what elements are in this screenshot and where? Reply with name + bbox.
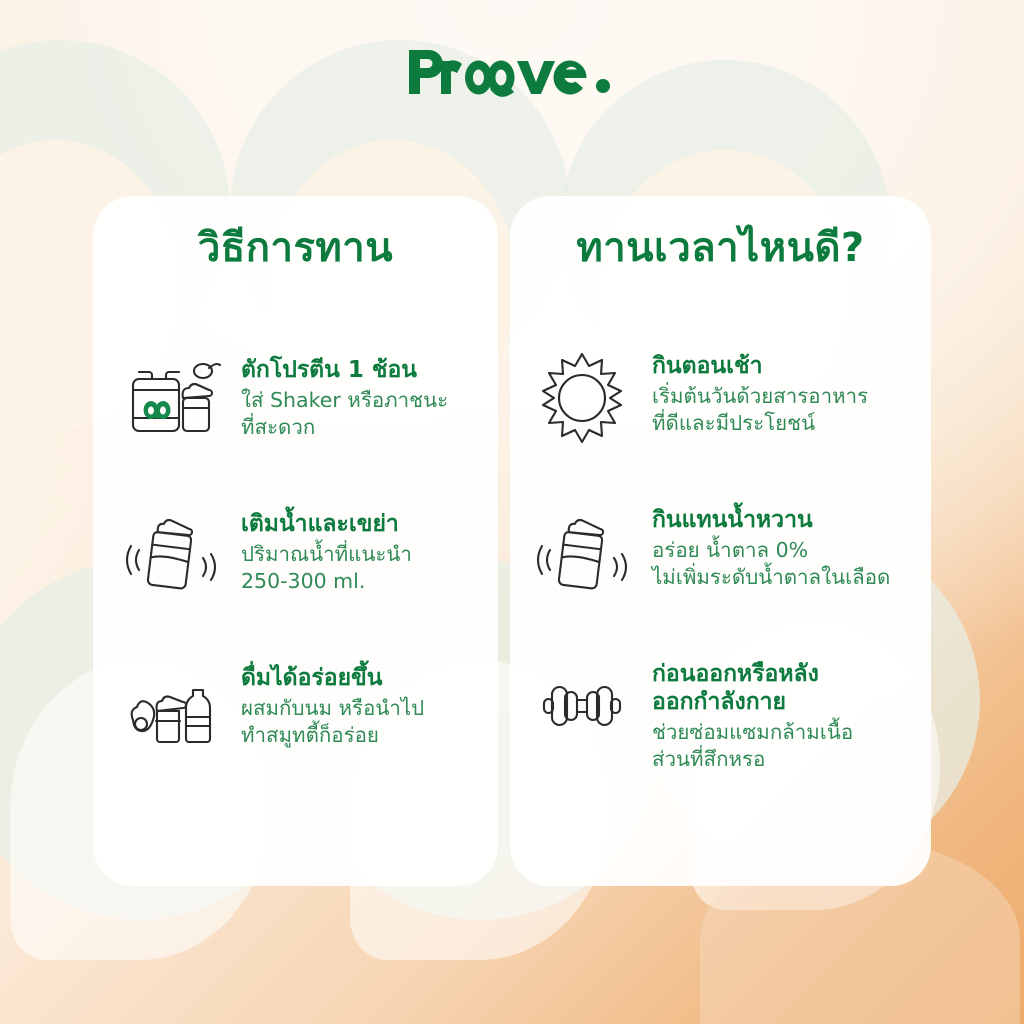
list-item-text: ก่อนออกหรือหลัง ออกกำลังกาย ช่วยซ่อมแซมก… <box>652 654 853 772</box>
list-item-text: กินแทนน้ำหวาน อร่อย น้ำตาล 0% ไม่เพิ่มระ… <box>652 500 890 590</box>
list-item-heading: กินแทนน้ำหวาน <box>652 506 890 534</box>
list-item-heading: ตักโปรตีน 1 ช้อน <box>241 356 448 384</box>
list-item-body: ปริมาณน้ำที่แนะนำ 250-300 ml. <box>241 541 412 594</box>
brand-logo <box>0 44 1024 100</box>
avocado-shaker-milk-bottle-icon <box>119 654 223 758</box>
card-how-to-consume: วิธีการทาน <box>93 196 498 886</box>
list-item-text: กินตอนเช้า เริ่มต้นวันด้วยสารอาหาร ที่ดี… <box>652 346 868 436</box>
card-left-title: วิธีการทาน <box>93 226 498 270</box>
dumbbell-icon <box>530 654 634 758</box>
list-item-heading: เติมน้ำและเขย่า <box>241 510 412 538</box>
list-item: กินแทนน้ำหวาน อร่อย น้ำตาล 0% ไม่เพิ่มระ… <box>510 500 931 618</box>
list-item-body: ช่วยซ่อมแซมกล้ามเนื้อ ส่วนที่สึกหรอ <box>652 719 853 772</box>
card-left-items: ตักโปรตีน 1 ช้อน ใส่ Shaker หรือภาชนะ ที… <box>93 346 498 808</box>
shaker-shake-icon <box>119 500 223 604</box>
list-item: ตักโปรตีน 1 ช้อน ใส่ Shaker หรือภาชนะ ที… <box>93 346 498 464</box>
list-item: กินตอนเช้า เริ่มต้นวันด้วยสารอาหาร ที่ดี… <box>510 346 931 464</box>
list-item-body: ใส่ Shaker หรือภาชนะ ที่สะดวก <box>241 387 448 440</box>
infographic-canvas: วิธีการทาน <box>0 0 1024 1024</box>
list-item-heading: ดื่มได้อร่อยขึ้น <box>241 664 424 692</box>
list-item-heading: กินตอนเช้า <box>652 352 868 380</box>
list-item-body: อร่อย น้ำตาล 0% ไม่เพิ่มระดับน้ำตาลในเลื… <box>652 537 890 590</box>
card-when-to-consume: ทานเวลาไหนดี? กินตอนเช้า เริ่มต้นวันด้วย… <box>510 196 931 886</box>
list-item: ดื่มได้อร่อยขึ้น ผสมกับนม หรือนำไป ทำสมู… <box>93 654 498 772</box>
card-right-title: ทานเวลาไหนดี? <box>510 226 931 270</box>
card-right-items: กินตอนเช้า เริ่มต้นวันด้วยสารอาหาร ที่ดี… <box>510 346 931 808</box>
list-item-text: ดื่มได้อร่อยขึ้น ผสมกับนม หรือนำไป ทำสมู… <box>241 654 424 748</box>
list-item-body: เริ่มต้นวันด้วยสารอาหาร ที่ดีและมีประโยช… <box>652 383 868 436</box>
sun-icon <box>530 346 634 450</box>
list-item: ก่อนออกหรือหลัง ออกกำลังกาย ช่วยซ่อมแซมก… <box>510 654 931 772</box>
list-item-heading: ก่อนออกหรือหลัง ออกกำลังกาย <box>652 660 853 716</box>
list-item: เติมน้ำและเขย่า ปริมาณน้ำที่แนะนำ 250-30… <box>93 500 498 618</box>
shaker-shake-icon <box>530 500 634 604</box>
list-item-body: ผสมกับนม หรือนำไป ทำสมูทตี้ก็อร่อย <box>241 695 424 748</box>
list-item-text: ตักโปรตีน 1 ช้อน ใส่ Shaker หรือภาชนะ ที… <box>241 346 448 440</box>
protein-tub-shaker-scoop-icon <box>119 346 223 450</box>
list-item-text: เติมน้ำและเขย่า ปริมาณน้ำที่แนะนำ 250-30… <box>241 500 412 594</box>
